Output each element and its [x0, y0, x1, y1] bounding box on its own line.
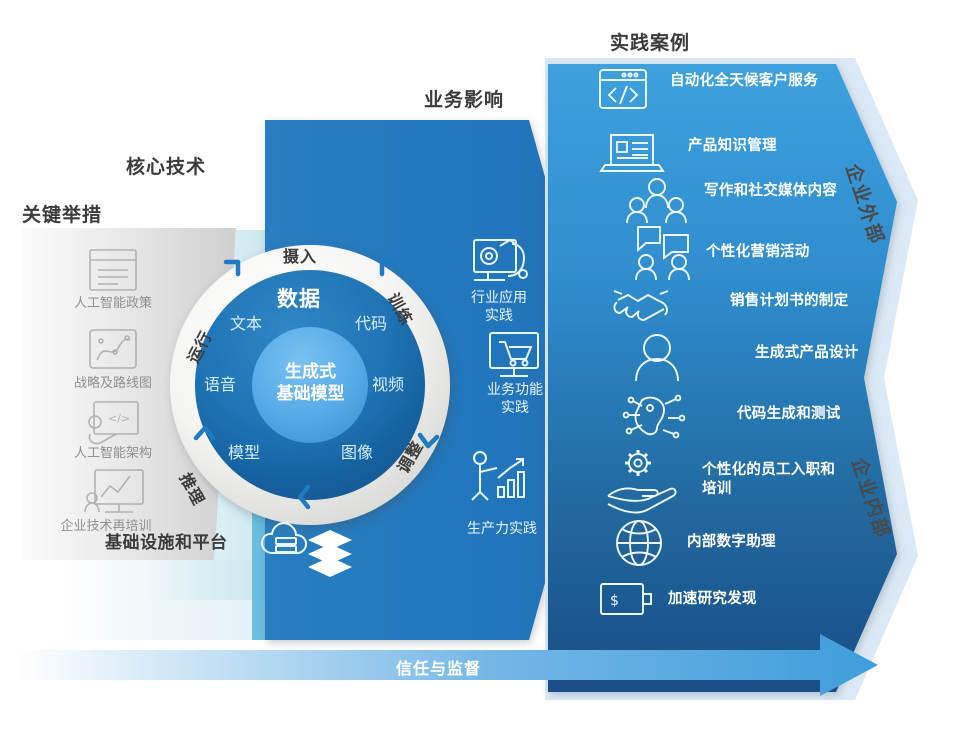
practice-case-row[interactable]: 销售计划书的制定 — [724, 292, 874, 311]
practice-case-label: 个性化的员工入职和培训 — [702, 461, 848, 499]
wheel-core-line2: 基础模型 — [258, 379, 363, 404]
practice-case-row[interactable]: 个性化营销活动 — [700, 243, 850, 262]
svg-text:</>: </> — [108, 412, 130, 425]
business-impact-line2: 实践 — [450, 398, 580, 416]
practice-case-row[interactable]: 个性化的员工入职和培训 — [696, 461, 848, 499]
trust-oversight-label: 信任与监督 — [396, 655, 481, 679]
practice-case-label: 个性化营销活动 — [706, 243, 810, 262]
header-practice-cases: 实践案例 — [610, 28, 690, 55]
practice-case-label: 生成式产品设计 — [755, 344, 859, 363]
practice-case-row[interactable]: 写作和社交媒体内容 — [698, 182, 840, 201]
key-measure-label: 人工智能架构 — [45, 442, 181, 461]
practice-case-row[interactable]: 生成式产品设计 — [749, 344, 899, 363]
wheel-modality-model: 模型 — [228, 439, 260, 463]
header-business-impact: 业务影响 — [424, 85, 504, 112]
practice-case-label: 加速研究发现 — [668, 590, 757, 609]
business-impact-line1: 行业应用 — [434, 288, 564, 306]
ring-label-ingest: 摄入 — [283, 243, 317, 267]
practice-case-row[interactable]: 加速研究发现 — [662, 590, 812, 609]
wheel-modality-text: 文本 — [230, 310, 262, 334]
key-measure-item[interactable]: 人工智能政策 — [45, 290, 181, 311]
wheel-modality-image: 图像 — [341, 439, 373, 463]
practice-case-row[interactable]: 自动化全天候客户服务 — [664, 72, 820, 91]
diagram-canvas: </> — [0, 0, 975, 730]
practice-case-row[interactable]: 内部数字助理 — [681, 533, 831, 552]
practice-case-label: 产品知识管理 — [688, 137, 777, 156]
practice-case-row[interactable]: 产品知识管理 — [682, 137, 832, 156]
wheel-modality-video: 视频 — [372, 371, 404, 395]
business-impact-item[interactable]: 业务功能 实践 — [450, 377, 580, 416]
wheel-modality-voice: 语音 — [204, 371, 236, 395]
practice-case-label: 代码生成和测试 — [737, 405, 841, 424]
practice-case-label: 内部数字助理 — [687, 533, 776, 552]
wheel-modality-code: 代码 — [355, 310, 387, 334]
key-measure-label: 人工智能政策 — [45, 292, 181, 311]
infrastructure-label: 基础设施和平台 — [105, 528, 228, 553]
key-measure-item[interactable]: 人工智能架构 — [45, 440, 181, 461]
practice-case-label: 自动化全天候客户服务 — [670, 72, 818, 91]
practice-case-row[interactable]: 代码生成和测试 — [731, 405, 881, 424]
key-measure-label: 战略及路线图 — [45, 372, 181, 391]
practice-case-label: 写作和社交媒体内容 — [704, 182, 837, 201]
business-impact-item[interactable]: 行业应用 实践 — [434, 285, 564, 324]
practice-case-label: 销售计划书的制定 — [730, 292, 848, 311]
business-impact-line1: 生产力实践 — [437, 519, 567, 537]
svg-text:$: $ — [610, 593, 619, 609]
key-measure-item[interactable]: 战略及路线图 — [45, 370, 181, 391]
business-impact-line2: 实践 — [434, 306, 564, 324]
header-core-tech: 核心技术 — [126, 152, 206, 179]
business-impact-line1: 业务功能 — [450, 380, 580, 398]
wheel-data-title: 数据 — [277, 283, 321, 313]
business-impact-item[interactable]: 生产力实践 — [437, 516, 567, 537]
stacked-layers-icon — [308, 530, 352, 577]
header-key-measures: 关键举措 — [22, 200, 102, 227]
